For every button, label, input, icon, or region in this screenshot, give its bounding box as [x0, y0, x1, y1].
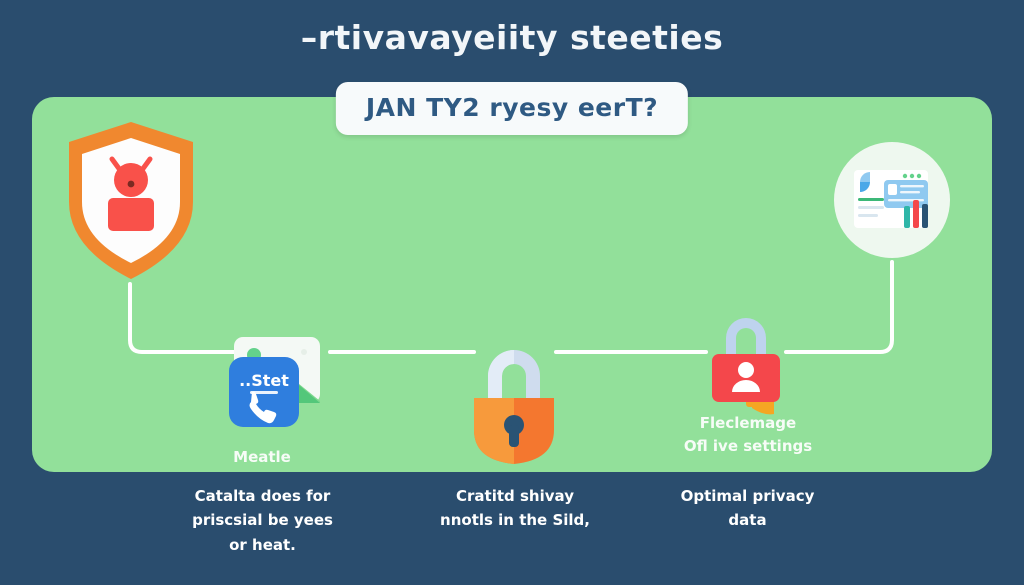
dashboard-line-3: [858, 214, 878, 217]
dashboard-line-1: [858, 198, 884, 201]
caption-col2: Cratitd shivay nnotls in the Sild,: [405, 484, 625, 533]
red-padlock-shackle: [726, 318, 766, 358]
chat-tile-label: ..Stet: [239, 371, 289, 390]
caption-col1: Catalta does for priscsial be yees or he…: [150, 484, 375, 557]
caption-col3: Optimal privacy data: [640, 484, 855, 533]
shield-with-person-icon: [62, 118, 200, 283]
padlock-closed-icon[interactable]: [462, 330, 566, 465]
padlock-user-key-icon[interactable]: [700, 312, 792, 422]
infographic-canvas: –rtivavayeiity steeties JAN TY2 ryesy ee…: [0, 0, 1024, 585]
panel-label-col3: Fleclemage Ofl ive settings: [648, 412, 848, 459]
photo-dot: [301, 349, 307, 355]
page-title: –rtivavayeiity steeties: [0, 18, 1024, 57]
analytics-dashboard-icon: [832, 140, 952, 260]
subtitle-text: JAN TY2 ryesy eerT?: [366, 93, 658, 122]
dashboard-card-thumb: [888, 184, 897, 195]
phone-call-tile-icon[interactable]: ..Stet: [228, 356, 300, 428]
dashboard-window-dots: [903, 174, 921, 178]
shield-person-eye: [128, 181, 135, 188]
subtitle-badge: JAN TY2 ryesy eerT?: [336, 82, 688, 135]
dashboard-line-2: [858, 206, 884, 209]
padlock-keyhole-stem: [509, 425, 519, 447]
padlock-shackle-hilite: [488, 350, 514, 402]
panel-label-col1: Meatle: [176, 446, 348, 469]
